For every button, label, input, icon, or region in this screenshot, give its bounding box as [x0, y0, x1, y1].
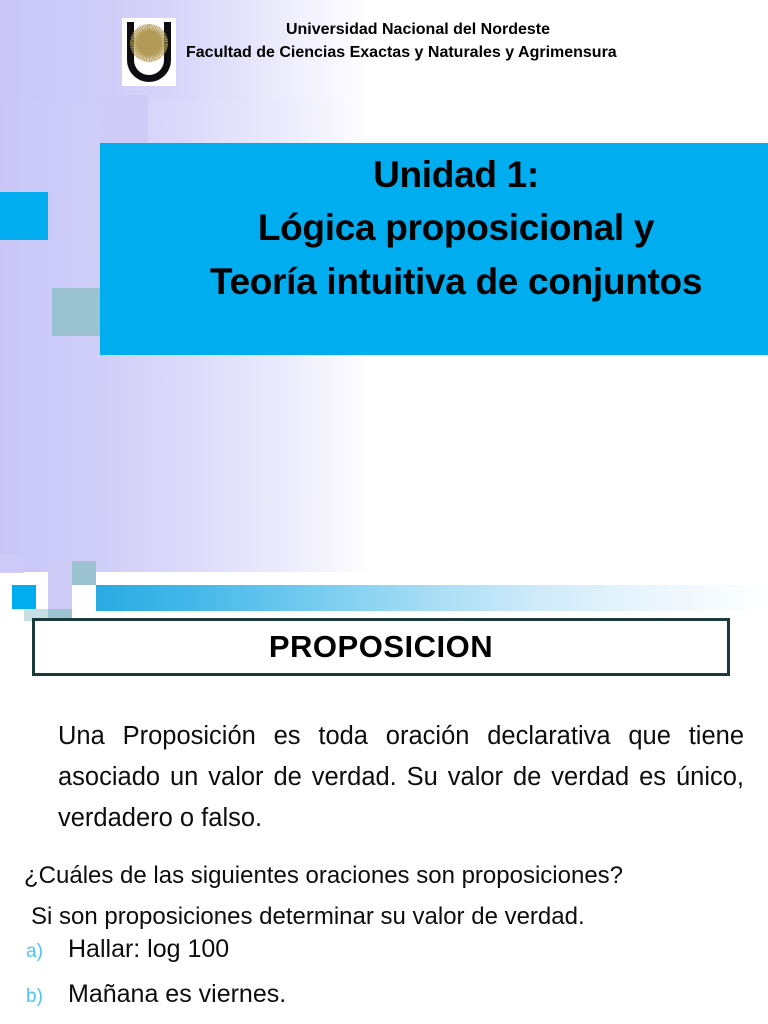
list-item-marker-a: a) — [26, 941, 68, 963]
title-line-1: Unidad 1: — [150, 148, 762, 201]
list-item-marker-b: b) — [26, 986, 68, 1008]
option-list: a) Hallar: log 100 b) Mañana es viernes. — [26, 935, 726, 1024]
list-item: b) Mañana es viernes. — [26, 980, 726, 1024]
section-heading-label: PROPOSICION — [269, 629, 493, 665]
list-item: a) Hallar: log 100 — [26, 935, 726, 980]
list-item-text-a: Hallar: log 100 — [68, 935, 229, 964]
decorative-square-small-blue-1 — [12, 585, 36, 609]
gradient-rule-bar — [96, 585, 768, 611]
decorative-square-small-lilac-1 — [48, 561, 72, 585]
title-line-2: Lógica proposicional y — [150, 201, 762, 254]
question-line-2: Si son proposiciones determinar su valor… — [24, 896, 744, 937]
question-line-1: ¿Cuáles de las siguientes oraciones son … — [24, 855, 744, 896]
decorative-square-small-steel-1 — [72, 561, 96, 585]
definition-paragraph: Una Proposición es toda oración declarat… — [58, 716, 744, 840]
institution-header: Universidad Nacional del Nordeste Facult… — [186, 18, 746, 64]
title-line-3: Teoría intuitiva de conjuntos — [150, 255, 762, 308]
slide-canvas: Unidad 1: Lógica proposicional y Teoría … — [0, 0, 768, 1024]
logo-sun-icon — [136, 30, 162, 56]
unne-logo — [122, 18, 176, 86]
decorative-square-lilac-1 — [100, 95, 148, 143]
decorative-square-small-lilac-2 — [48, 585, 72, 609]
decorative-square-steel-4 — [52, 288, 100, 336]
faculty-name: Facultad de Ciencias Exactas y Naturales… — [186, 41, 746, 64]
section-heading-box: PROPOSICION — [32, 618, 730, 676]
slide-title: Unidad 1: Lógica proposicional y Teoría … — [150, 148, 762, 308]
university-name: Universidad Nacional del Nordeste — [186, 18, 746, 41]
decorative-square-blue-1 — [0, 192, 48, 240]
decorative-square-small-lilac-0 — [0, 555, 24, 573]
question-block: ¿Cuáles de las siguientes oraciones son … — [24, 855, 744, 938]
list-item-text-b: Mañana es viernes. — [68, 980, 286, 1009]
